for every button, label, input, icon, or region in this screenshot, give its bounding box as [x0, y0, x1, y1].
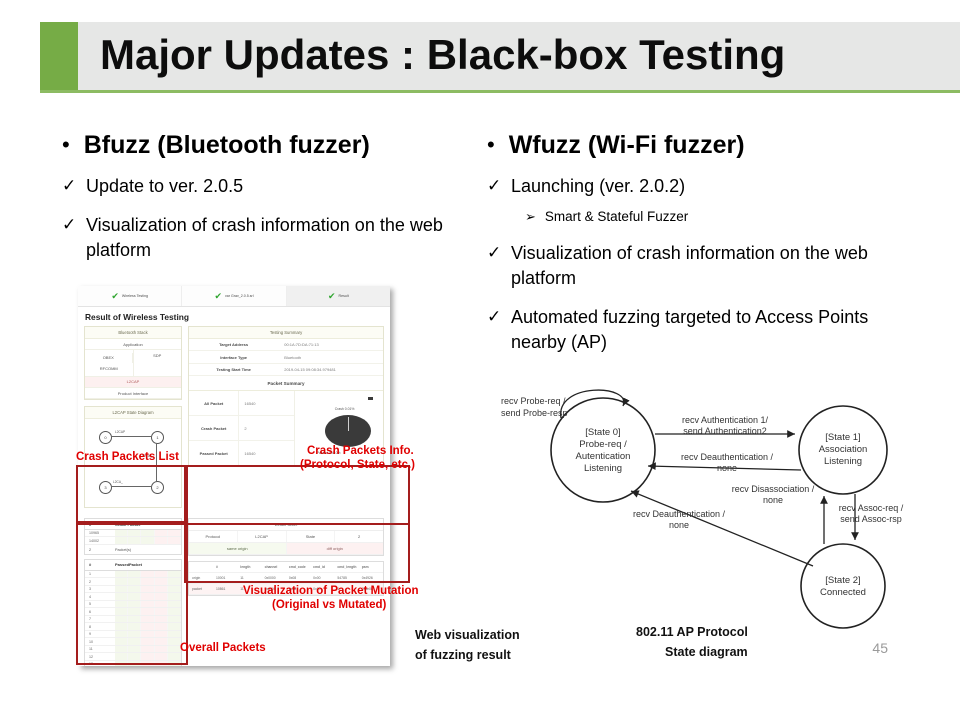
- detail-key-state: State: [287, 531, 336, 542]
- stack-col-left: OBEX RFCOMM: [85, 350, 134, 376]
- wizard-step-file: ✔ var Grav_2.0.5.srl: [182, 286, 286, 306]
- table-row[interactable]: 12: [85, 653, 181, 661]
- l2cap-edge-label-bottom: L2CA_: [113, 480, 123, 484]
- svg-text:recv Assoc-req /: recv Assoc-req /: [839, 503, 904, 513]
- check-icon: ✓: [487, 241, 501, 265]
- packet-value: 16540: [238, 441, 293, 465]
- summary-key: Target Address: [189, 339, 278, 350]
- passed-row-index: 11: [85, 647, 115, 651]
- passed-row-index: 12: [85, 655, 115, 659]
- table-row[interactable]: 10965: [85, 530, 181, 538]
- svg-text:Listening: Listening: [584, 463, 622, 474]
- summary-value: Bluetooth: [278, 351, 383, 362]
- l2cap-edge-top: [111, 436, 151, 437]
- left-item-0: ✓ Update to ver. 2.0.5: [62, 174, 467, 199]
- left-item-1-label: Visualization of crash information on th…: [86, 213, 467, 263]
- passed-row-index: 13: [85, 662, 115, 666]
- passed-row-index: 8: [85, 625, 115, 629]
- caption-web-visualization-line2: of fuzzing result: [415, 647, 511, 663]
- table-row[interactable]: 13: [85, 661, 181, 666]
- detail-packet-row: Protocol L2CAP State 2: [189, 531, 383, 543]
- svg-text:none: none: [763, 495, 783, 505]
- pie-legend-swatch: [368, 397, 373, 400]
- crash-col-index: #: [85, 519, 115, 529]
- left-heading: Bfuzz (Bluetooth fuzzer): [84, 130, 370, 160]
- edge-s2-to-s1-label: recv Disassociation / none: [732, 484, 815, 505]
- passed-row-index: 10: [85, 640, 115, 644]
- l2cap-node-2: 2: [151, 481, 164, 494]
- caption-state-diagram-line1: 802.11 AP Protocol: [636, 624, 748, 640]
- svg-text:[State 1]: [State 1]: [825, 432, 860, 443]
- mutation-table-header: # length channel cmd_code cmd_id cmd_len…: [189, 562, 383, 573]
- passed-packet-table: # PassedPacket 123456789101112131416 165…: [84, 559, 182, 666]
- check-icon: ✓: [62, 213, 76, 237]
- pie-crash-label: Crash 0.01%: [335, 407, 355, 411]
- table-row[interactable]: 4: [85, 593, 181, 601]
- svg-text:recv Deauthentication /: recv Deauthentication /: [633, 509, 726, 519]
- check-icon: ✔: [111, 292, 119, 301]
- svg-text:none: none: [669, 520, 689, 530]
- edge-s1-to-s2-label: recv Assoc-req / send Assoc-rsp: [839, 503, 904, 524]
- caption-state-diagram-line2: State diagram: [665, 644, 748, 660]
- state-node-1-label: [State 1] Association Listening: [819, 432, 868, 467]
- passed-row-cells: [115, 623, 181, 630]
- l2cap-node-0: 0: [99, 431, 112, 444]
- callout-label-crash-packets-list: Crash Packets List: [76, 450, 179, 464]
- l2cap-state-diagram-header: L2CAP State Diagram: [85, 407, 181, 419]
- mutation-col-label: [189, 562, 213, 572]
- crash-footer-count: 2: [89, 548, 115, 552]
- passed-row-cells: [115, 601, 181, 608]
- summary-key: Testing Start Time: [189, 364, 278, 375]
- right-item-2-label: Automated fuzzing targeted to Access Poi…: [511, 305, 907, 355]
- right-item-2: ✓ Automated fuzzing targeted to Access P…: [487, 305, 907, 355]
- detail-value-protocol: L2CAP: [238, 531, 287, 542]
- stack-row-l2cap: L2CAP: [85, 377, 181, 388]
- callout-label-overall-packets: Overall Packets: [180, 641, 266, 655]
- crash-packet-table: # Crash Packet 10965 14002 2 Packet(s): [84, 518, 182, 555]
- state-node-2-label: [State 2] Connected: [820, 575, 866, 598]
- check-icon: ✓: [487, 174, 501, 198]
- mutation-row-label: packet: [189, 584, 213, 594]
- table-row[interactable]: 7: [85, 616, 181, 624]
- passed-row-index: 1: [85, 572, 115, 576]
- check-icon: ✓: [487, 305, 501, 329]
- passed-row-index: 4: [85, 595, 115, 599]
- stack-row-sdp: SDP: [134, 350, 182, 376]
- mutation-col-5: cmd_length: [334, 562, 358, 572]
- detail-origin-row: same origin diff origin: [189, 543, 383, 555]
- mutation-cell: 0x0000: [262, 573, 286, 583]
- screenshot-body: Bluetooth Stack Application OBEX RFCOMM …: [78, 326, 390, 514]
- summary-row-start-time: Testing Start Time 2019-04-15 09:08:34.9…: [189, 364, 383, 376]
- passed-row-cells: [115, 578, 181, 585]
- svg-text:send Assoc-rsp: send Assoc-rsp: [840, 514, 902, 524]
- summary-value: 2019-04-15 09:08:34.979481: [278, 364, 383, 375]
- right-subitem-0: ➢ Smart & Stateful Fuzzer: [525, 207, 907, 227]
- packet-summary-header: Packet Summary: [189, 376, 383, 390]
- check-icon: ✓: [62, 174, 76, 198]
- right-column: • Wfuzz (Wi-Fi fuzzer) ✓ Launching (ver.…: [487, 130, 907, 369]
- passed-row-index: 6: [85, 610, 115, 614]
- l2cap-edge-bottom: [111, 486, 151, 487]
- stack-row-application: Application: [85, 339, 181, 350]
- mutation-cell: 0x00: [310, 573, 334, 583]
- slide-root: Major Updates : Black-box Testing • Bfuz…: [0, 0, 960, 720]
- mutation-cell: 10861: [213, 584, 237, 594]
- bullet-icon: •: [62, 130, 70, 160]
- wizard-steps: ✔ Wireless Testing ✔ var Grav_2.0.5.srl …: [78, 286, 390, 307]
- detail-key-protocol: Protocol: [189, 531, 238, 542]
- svg-text:Connected: Connected: [820, 587, 866, 598]
- svg-text:Autentication: Autentication: [576, 451, 631, 462]
- passed-packet-rows[interactable]: 123456789101112131416: [85, 571, 181, 666]
- l2cap-node-1: 1: [151, 431, 164, 444]
- svg-text:Listening: Listening: [824, 456, 862, 467]
- passed-packet-table-header: # PassedPacket: [85, 560, 181, 571]
- crash-and-passed-tables: # Crash Packet 10965 14002 2 Packet(s): [84, 518, 182, 666]
- svg-text:recv Deauthentication /: recv Deauthentication /: [681, 452, 774, 462]
- table-row[interactable]: 5: [85, 601, 181, 609]
- l2cap-node-3: 3: [99, 481, 112, 494]
- crash-footer-label: Packet(s): [115, 548, 131, 552]
- table-row[interactable]: 1: [85, 571, 181, 579]
- mutation-row-origin: origin 10001 11 0x0000 0x08 0x00 54785 0…: [189, 573, 383, 584]
- packet-row-crash: Crash Packet 2: [189, 416, 294, 441]
- packet-label: Crash Packet: [189, 426, 238, 431]
- crash-col-name: Crash Packet: [115, 519, 181, 529]
- edge-self-loop-label: recv Probe-req / send Probe-resp: [501, 396, 568, 418]
- summary-value: 00:1A:7D:DA:71:13: [278, 339, 383, 350]
- mutation-col-2: channel: [262, 562, 286, 572]
- table-row[interactable]: 6: [85, 608, 181, 616]
- detail-packet-table: DetailPacket Protocol L2CAP State 2 same…: [188, 518, 384, 556]
- detail-diff-origin: diff origin: [287, 543, 384, 554]
- stack-row-rfcomm: RFCOMM: [85, 363, 133, 373]
- svg-text:none: none: [717, 463, 737, 473]
- mutation-cell: 0x08: [286, 573, 310, 583]
- mutation-col-3: cmd_code: [286, 562, 310, 572]
- left-column: • Bfuzz (Bluetooth fuzzer) ✓ Update to v…: [62, 130, 467, 277]
- passed-col-index: #: [85, 560, 115, 570]
- wizard-step-1-sub: var Grav_2.0.5.srl: [225, 294, 254, 298]
- page-number: 45: [872, 640, 888, 656]
- packet-value: 2: [238, 416, 293, 440]
- left-heading-row: • Bfuzz (Bluetooth fuzzer): [62, 130, 467, 160]
- passed-row-index: 7: [85, 617, 115, 621]
- wizard-step-0-sub: Wireless Testing: [122, 294, 148, 298]
- mutation-row-label: origin: [189, 573, 213, 583]
- stack-row-protocols: OBEX RFCOMM SDP: [85, 350, 181, 377]
- page-title: Major Updates : Black-box Testing: [100, 20, 950, 90]
- arrow-bullet-icon: ➢: [525, 207, 536, 227]
- detail-packet-caption: DetailPacket: [189, 519, 383, 531]
- state-diagram-svg: [State 0] Probe-req / Autentication List…: [483, 388, 923, 633]
- pie-slice-passed: [325, 415, 371, 447]
- crash-row-cells: [115, 537, 181, 544]
- svg-text:Association: Association: [819, 444, 868, 455]
- table-row[interactable]: 2: [85, 578, 181, 586]
- packet-row-all: All Packet 16540: [189, 391, 294, 416]
- right-item-0-label: Launching (ver. 2.0.2): [511, 174, 685, 199]
- l2cap-edge-label-top: L2CAP: [115, 430, 125, 434]
- screenshot-page-title: Result of Wireless Testing: [78, 307, 390, 326]
- state-node-2: [801, 544, 885, 628]
- right-item-1: ✓ Visualization of crash information on …: [487, 241, 907, 291]
- detail-value-state: 2: [335, 531, 383, 542]
- summary-key: Interface Type: [189, 351, 278, 362]
- callout-label-crash-packets-info-line2: (Protocol, State, etc.): [300, 458, 415, 472]
- check-icon: ✔: [214, 292, 222, 301]
- crash-row-cells: [115, 530, 181, 537]
- right-item-0: ✓ Launching (ver. 2.0.2): [487, 174, 907, 199]
- stack-row-product-interface: Product Interface: [85, 388, 181, 399]
- bluetooth-stack-header: Bluetooth Stack: [85, 327, 181, 339]
- passed-row-cells: [115, 638, 181, 645]
- crash-row-index: 10965: [85, 531, 115, 535]
- table-row[interactable]: 9: [85, 631, 181, 639]
- svg-text:send Authentication2: send Authentication2: [683, 426, 767, 436]
- packet-value: 16540: [238, 391, 293, 415]
- passed-row-cells: [115, 661, 181, 666]
- wizard-step-2-title: Result: [339, 294, 349, 298]
- passed-row-index: 3: [85, 587, 115, 591]
- detail-same-origin: same origin: [189, 543, 287, 554]
- passed-row-cells: [115, 586, 181, 593]
- passed-row-cells: [115, 608, 181, 615]
- passed-col-name: PassedPacket: [115, 560, 181, 570]
- svg-text:send Probe-resp: send Probe-resp: [501, 408, 568, 418]
- mutation-col-6: psm: [359, 562, 383, 572]
- passed-row-cells: [115, 653, 181, 660]
- left-item-1: ✓ Visualization of crash information on …: [62, 213, 467, 263]
- passed-row-index: 2: [85, 580, 115, 584]
- check-icon: ✔: [328, 292, 336, 301]
- packet-label: Passed Packet: [189, 451, 238, 456]
- passed-row-index: 9: [85, 632, 115, 636]
- edge-s2-to-s0: [631, 491, 813, 566]
- summary-row-target-address: Target Address 00:1A:7D:DA:71:13: [189, 339, 383, 351]
- mutation-col-1: length: [237, 562, 261, 572]
- passed-row-index: 5: [85, 602, 115, 606]
- right-subitem-0-label: Smart & Stateful Fuzzer: [545, 207, 688, 227]
- crash-table-footer: 2 Packet(s): [85, 545, 181, 554]
- callout-label-mutation-line1: Visualization of Packet Mutation: [243, 584, 419, 598]
- passed-row-cells: [115, 571, 181, 578]
- svg-text:recv Disassociation /: recv Disassociation /: [732, 484, 815, 494]
- right-heading: Wfuzz (Wi-Fi fuzzer): [509, 130, 745, 160]
- packet-summary-rows: All Packet 16540 Crash Packet 2 Passed P…: [189, 391, 295, 466]
- mutation-cell: 0x4926: [359, 573, 383, 583]
- crash-packet-table-header: # Crash Packet: [85, 519, 181, 530]
- title-accent-block: [40, 22, 78, 90]
- passed-row-cells: [115, 646, 181, 653]
- passed-row-cells: [115, 593, 181, 600]
- svg-text:recv Authentication 1/: recv Authentication 1/: [682, 415, 769, 425]
- screenshot-right-pane: Testing Summary Target Address 00:1A:7D:…: [188, 326, 384, 514]
- svg-text:Probe-req /: Probe-req /: [579, 439, 627, 450]
- table-row[interactable]: 3: [85, 586, 181, 594]
- slide-title-bar: Major Updates : Black-box Testing: [0, 22, 960, 90]
- table-row[interactable]: 10: [85, 638, 181, 646]
- testing-summary-header: Testing Summary: [189, 327, 383, 339]
- left-item-0-label: Update to ver. 2.0.5: [86, 174, 243, 199]
- packet-label: All Packet: [189, 401, 238, 406]
- right-heading-row: • Wfuzz (Wi-Fi fuzzer): [487, 130, 907, 160]
- callout-label-mutation-line2: (Original vs Mutated): [272, 598, 386, 612]
- callout-label-crash-packets-info-line1: Crash Packets Info.: [307, 444, 414, 458]
- passed-row-cells: [115, 616, 181, 623]
- svg-text:[State 0]: [State 0]: [585, 427, 620, 438]
- packet-row-passed: Passed Packet 16540: [189, 441, 294, 466]
- mutation-cell: 10001: [213, 573, 237, 583]
- crash-row-index: 14002: [85, 539, 115, 543]
- bluetooth-stack-card: Bluetooth Stack Application OBEX RFCOMM …: [84, 326, 182, 400]
- table-row[interactable]: 14002: [85, 537, 181, 545]
- edge-s2-to-s0-label: recv Deauthentication / none: [633, 509, 726, 530]
- right-item-1-label: Visualization of crash information on th…: [511, 241, 907, 291]
- svg-text:[State 2]: [State 2]: [825, 575, 860, 586]
- ap-protocol-state-diagram: [State 0] Probe-req / Autentication List…: [483, 388, 923, 633]
- mutation-cell: 11: [237, 573, 261, 583]
- passed-row-cells: [115, 631, 181, 638]
- screenshot-left-pane: Bluetooth Stack Application OBEX RFCOMM …: [84, 326, 182, 514]
- mutation-cell: 54785: [334, 573, 358, 583]
- edge-s0-to-s1-label: recv Authentication 1/ send Authenticati…: [682, 415, 769, 436]
- bullet-icon: •: [487, 130, 495, 160]
- table-row[interactable]: 8: [85, 623, 181, 631]
- svg-text:recv Probe-req /: recv Probe-req /: [501, 396, 566, 406]
- edge-s1-to-s0-label: recv Deauthentication / none: [681, 452, 774, 473]
- mutation-col-4: cmd_id: [310, 562, 334, 572]
- mutation-col-0: #: [213, 562, 237, 572]
- summary-row-interface-type: Interface Type Bluetooth: [189, 351, 383, 363]
- stack-row-obex: OBEX: [85, 353, 133, 363]
- wizard-step-result: ✔ Result: [287, 286, 390, 306]
- table-row[interactable]: 11: [85, 646, 181, 654]
- title-underline: [40, 90, 960, 93]
- caption-web-visualization-line1: Web visualization: [415, 627, 520, 643]
- wizard-step-choose-type: ✔ Wireless Testing: [78, 286, 182, 306]
